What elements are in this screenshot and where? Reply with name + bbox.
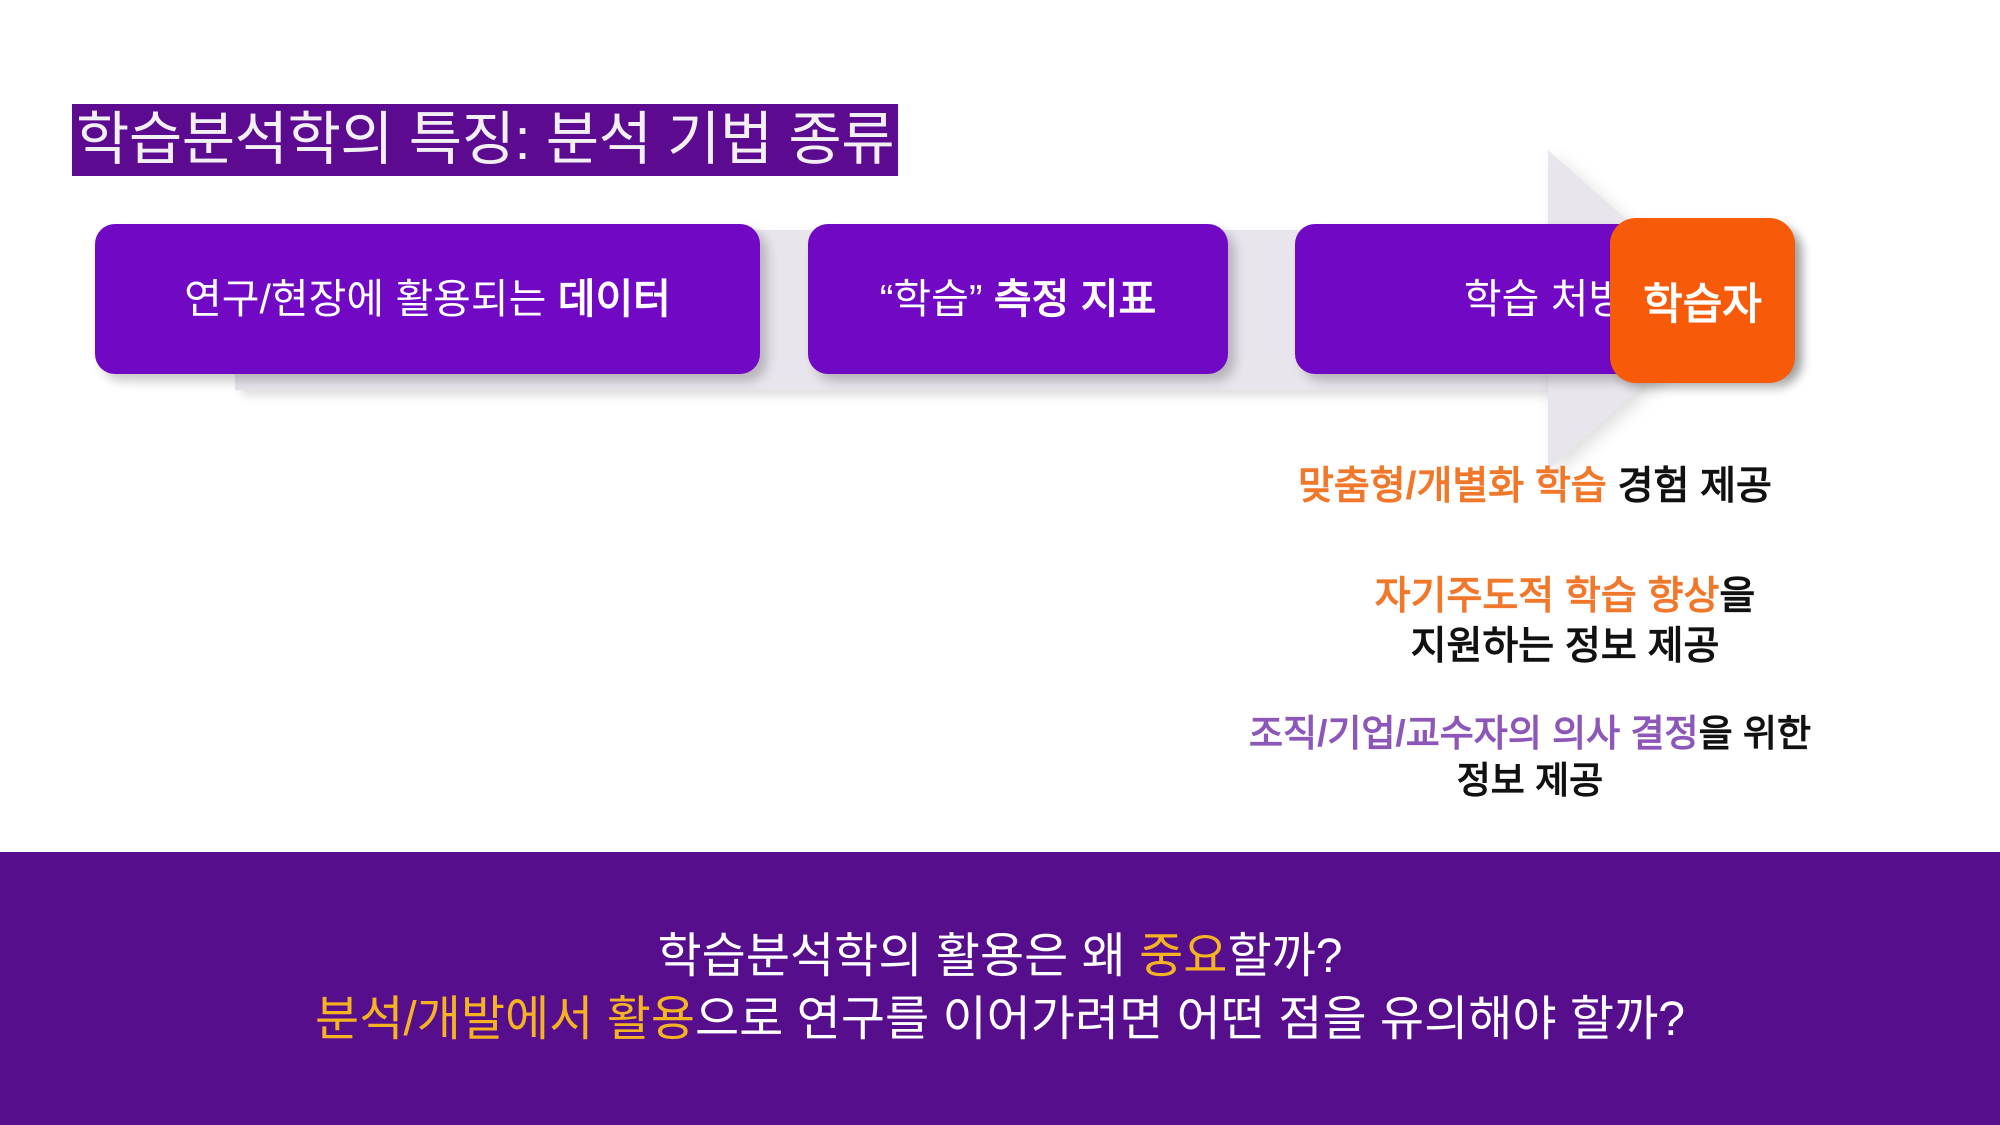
outcome-decision-making-line2: 정보 제공: [1457, 760, 1603, 801]
process-stage-data[interactable]: 연구/현장에 활용되는 데이터: [95, 224, 760, 374]
outcome-decision-making: 조직/기업/교수자의 의사 결정을 위한 정보 제공: [1115, 710, 1945, 805]
process-stage-measure-label: “학습” 측정 지표: [880, 279, 1156, 320]
process-arrow-diagram: 연구/현장에 활용되는 데이터 “학습” 측정 지표 학습 처방 학습자: [0, 150, 2000, 440]
banner-line-1: 학습분석학의 활용은 왜 중요할까?: [658, 926, 1343, 988]
outcome-self-directed-highlight: 자기주도적 학습 향상: [1375, 575, 1720, 618]
banner-line-2-highlight-a: 분석/개발에서: [315, 993, 607, 1046]
process-stage-prescribe-label: 학습 처방: [1464, 279, 1626, 320]
outcome-personalized-rest: 경험 제공: [1607, 465, 1772, 508]
banner-line-2: 분석/개발에서 활용으로 연구를 이어가려면 어떤 점을 유의해야 할까?: [315, 989, 1685, 1051]
outcome-decision-making-rest: 을 위한: [1699, 713, 1811, 754]
outcome-self-directed-line2: 지원하는 정보 제공: [1411, 625, 1720, 668]
banner-line-1-highlight: 중요: [1139, 930, 1227, 983]
process-stage-data-label: 연구/현장에 활용되는 데이터: [184, 279, 671, 320]
bottom-question-banner: 학습분석학의 활용은 왜 중요할까? 분석/개발에서 활용으로 연구를 이어가려…: [0, 852, 2000, 1125]
banner-line-2-tail: 으로 연구를 이어가려면 어떤 점을 유의해야 할까?: [695, 993, 1685, 1046]
process-endpoint-learner-label: 학습자: [1643, 270, 1762, 332]
outcome-self-directed: 자기주도적 학습 향상을 지원하는 정보 제공: [1185, 572, 1945, 672]
slide-canvas: 학습분석학의 특징: 분석 기법 종류 연구/현장에 활용되는 데이터 “학습”…: [0, 0, 2000, 1125]
outcome-self-directed-rest: 을: [1719, 575, 1755, 618]
process-endpoint-learner[interactable]: 학습자: [1610, 218, 1795, 383]
outcome-personalized: 맞춤형/개별화 학습 경험 제공: [1130, 462, 1940, 512]
banner-line-1-post: 할까?: [1227, 930, 1342, 983]
banner-line-2-highlight-b: 활용: [607, 993, 695, 1046]
banner-line-1-pre: 학습분석학의 활용은 왜: [658, 930, 1140, 983]
outcome-decision-making-highlight: 조직/기업/교수자의 의사 결정: [1249, 713, 1699, 754]
outcome-personalized-highlight: 맞춤형/개별화 학습: [1298, 465, 1607, 508]
process-stage-measure[interactable]: “학습” 측정 지표: [808, 224, 1228, 374]
